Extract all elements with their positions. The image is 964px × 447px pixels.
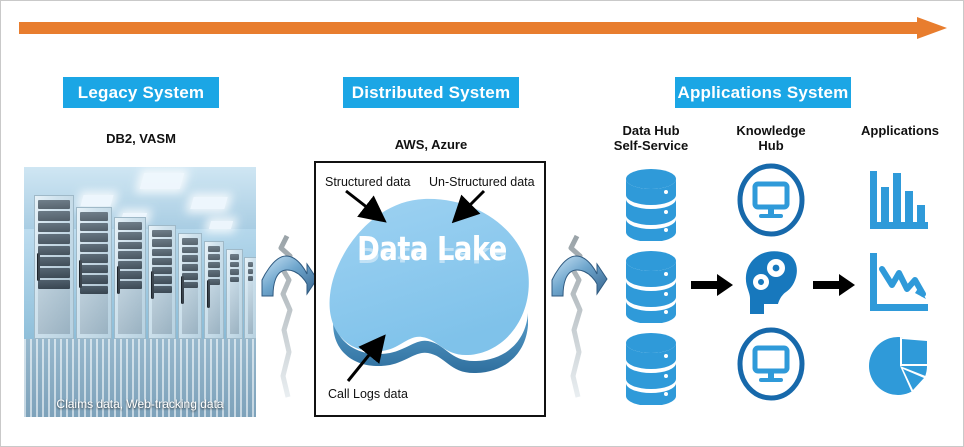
column-heading-applications: Applications: [837, 123, 963, 138]
applications-icon-column: [841, 161, 957, 407]
heading-line-1: Data Hub: [593, 123, 709, 138]
monitor-circle-icon: [736, 162, 806, 238]
bridge-over-gap-icon: [259, 234, 319, 399]
monitor-slot[interactable]: [713, 323, 829, 405]
server-rack: [114, 217, 146, 339]
column-heading-data-hub: Data Hub Self-Service: [593, 123, 709, 153]
evolution-arrow: [19, 17, 947, 39]
diagram-canvas: Legacy System Distributed System Applica…: [0, 0, 964, 447]
ceiling-light: [209, 221, 233, 229]
column-heading-knowledge-hub: Knowledge Hub: [713, 123, 829, 153]
section-header-applications-system[interactable]: Applications System: [675, 77, 851, 108]
ceiling-light: [190, 197, 227, 209]
rack-handle: [151, 271, 154, 299]
rack-handle: [79, 260, 82, 288]
server-rack: [226, 249, 243, 339]
structured-data-label: Structured data: [325, 175, 410, 189]
section-header-legacy-system[interactable]: Legacy System: [63, 77, 219, 108]
server-rack: [244, 257, 256, 339]
server-rack: [148, 225, 176, 339]
line-chart-slot[interactable]: [841, 243, 957, 325]
bar-chart-slot[interactable]: [841, 161, 957, 243]
brain-slot[interactable]: [713, 241, 829, 323]
data-lake-title-reflection: Data Lake: [325, 243, 538, 267]
bar-chart-icon: [866, 167, 932, 237]
distributed-technology-label: AWS, Azure: [343, 137, 519, 152]
section-header-distributed-system[interactable]: Distributed System: [343, 77, 519, 108]
database-icon: [622, 249, 680, 323]
declining-line-chart-icon: [866, 249, 932, 319]
rack-handle: [181, 276, 184, 304]
server-rack: [204, 241, 224, 339]
database-slot[interactable]: [593, 163, 709, 245]
heading-line-2: Self-Service: [593, 138, 709, 153]
evolution-arrow-shaft: [19, 22, 919, 34]
database-slot[interactable]: [593, 327, 709, 409]
ceiling-light: [140, 173, 185, 189]
database-icon: [622, 167, 680, 241]
rack-handle: [117, 266, 120, 294]
pie-chart-slot[interactable]: [841, 325, 957, 407]
rack-handle: [207, 280, 210, 308]
legacy-datacenter-image: Claims data, Web-tracking data: [24, 167, 256, 417]
evolution-arrow-head: [917, 17, 947, 39]
server-rack: [34, 195, 74, 339]
legacy-technology-label: DB2, VASM: [63, 131, 219, 146]
data-lake-panel: Data Lake Data Lake Structured data Un-S…: [314, 161, 546, 417]
ceiling-light: [80, 195, 113, 206]
brain-gears-icon: [734, 244, 808, 320]
rack-handle: [37, 253, 40, 281]
unstructured-data-label: Un-Structured data: [429, 175, 535, 189]
heading-line-1: Knowledge: [713, 123, 829, 138]
heading-line-1: Applications: [837, 123, 963, 138]
legacy-image-caption: Claims data, Web-tracking data: [24, 397, 256, 411]
call-logs-data-label: Call Logs data: [328, 387, 408, 401]
monitor-circle-icon: [736, 326, 806, 402]
pie-chart-icon: [866, 331, 932, 401]
server-rack: [178, 233, 202, 339]
heading-line-2: Hub: [713, 138, 829, 153]
server-rack: [76, 207, 112, 339]
knowledge-hub-icon-column: [713, 159, 829, 405]
database-icon: [622, 331, 680, 405]
monitor-slot[interactable]: [713, 159, 829, 241]
